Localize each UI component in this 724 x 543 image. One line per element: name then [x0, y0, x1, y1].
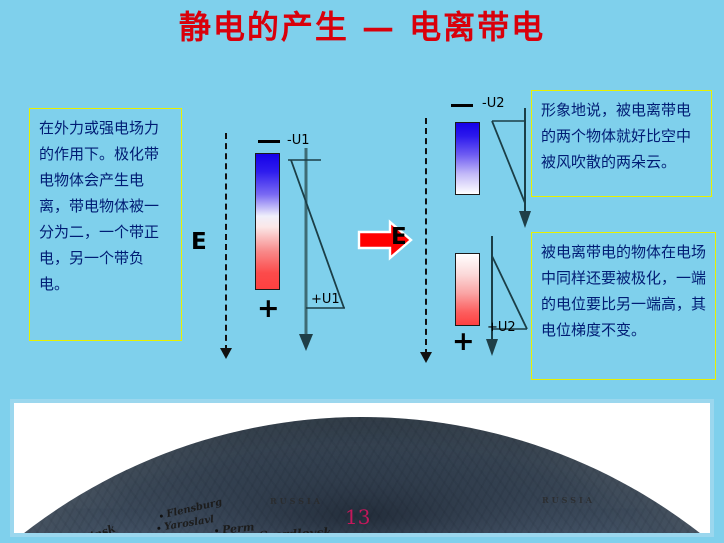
city-label: Perm	[221, 520, 255, 536]
ionized-body-positive-bar	[455, 253, 480, 326]
potential-gradient-line	[492, 121, 525, 203]
efield-label-left: E	[191, 229, 207, 255]
efield-arrowhead	[220, 348, 232, 359]
efield-dashed-line	[425, 118, 427, 355]
axis-arrowhead	[299, 334, 313, 351]
label-plus-u1: +U1	[311, 292, 340, 307]
axis-arrowhead	[486, 339, 498, 356]
potential-axis-upper-right	[485, 108, 545, 238]
potential-axis-lower-right	[485, 236, 545, 366]
efield-dashed-line	[225, 133, 227, 351]
ionized-body-negative-bar	[455, 122, 480, 195]
potential-axis-left	[288, 148, 368, 358]
minus-sign-left-bar: −	[258, 140, 280, 143]
slide-canvas: 静电的产生 — 电离带电 在外力或强电场力的作用下。极化带电物体会产生电离，带电…	[0, 0, 724, 543]
textbox-left-explanation: 在外力或强电场力的作用下。极化带电物体会产生电离，带电物体被一分为二，一个带正电…	[29, 108, 182, 341]
efield-arrowhead	[420, 352, 432, 363]
potential-gradient-line	[291, 160, 344, 308]
label-minus-u2: -U2	[482, 96, 504, 111]
label-plus-u2: +U2	[487, 320, 516, 335]
country-label: RUSSIA	[270, 496, 323, 506]
city-label: Kazan	[200, 534, 239, 537]
minus-sign-upper-bar: −	[451, 104, 473, 107]
potential-gradient-line	[492, 256, 527, 329]
textbox-bottom-right-polarization: 被电离带电的物体在电场中同样还要被极化，一端的电位要比另一端高，其电位梯度不变。	[531, 232, 716, 380]
efield-arrow-left: E	[215, 133, 237, 351]
efield-label-right: E	[391, 224, 407, 250]
polarized-body-bar	[255, 153, 280, 290]
page-title: 静电的产生 — 电离带电	[0, 10, 724, 45]
plus-sign-lower-bar: +	[452, 328, 475, 355]
axis-arrowhead	[519, 211, 531, 228]
textbox-top-right-analogy: 形象地说，被电离带电的两个物体就好比空中被风吹散的两朵云。	[531, 90, 712, 197]
plus-sign-left-bar: +	[257, 295, 280, 322]
efield-arrow-right: E	[415, 118, 437, 355]
label-minus-u1: -U1	[287, 133, 309, 148]
country-label: RUSSIA	[542, 495, 595, 505]
page-number: 13	[345, 505, 370, 529]
